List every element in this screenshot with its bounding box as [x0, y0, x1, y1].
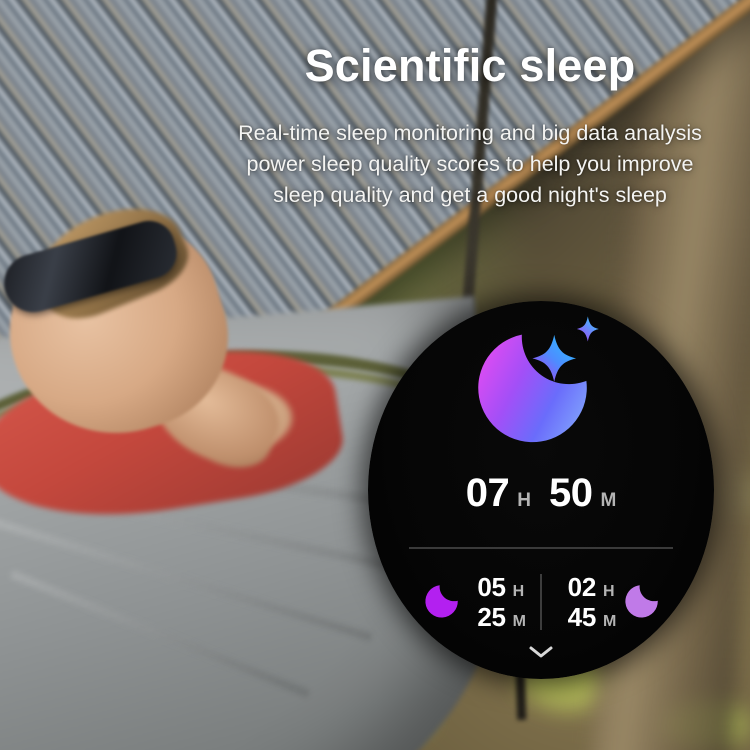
- deep-sleep-minutes-unit: M: [513, 613, 526, 630]
- chevron-down-icon: [528, 645, 554, 659]
- deep-sleep-stat[interactable]: 05 H 25 M: [423, 573, 526, 631]
- sparkle-star-icon: [524, 313, 608, 397]
- deep-sleep-hours-unit: H: [513, 583, 525, 600]
- light-sleep-minutes-value: 45: [556, 603, 596, 631]
- total-hours-unit: H: [517, 491, 531, 510]
- deep-sleep-hours-value: 05: [466, 573, 506, 601]
- total-minutes-value: 50: [549, 473, 593, 513]
- light-sleep-stat[interactable]: 02 H 45 M: [556, 573, 659, 631]
- stat-divider: [540, 574, 542, 630]
- deep-sleep-minutes-value: 25: [466, 603, 506, 631]
- sleep-stage-stats: 05 H 25 M 02 H 45: [368, 573, 714, 631]
- light-sleep-hours-value: 02: [556, 573, 596, 601]
- total-minutes-unit: M: [600, 491, 616, 510]
- light-sleep-minutes-unit: M: [603, 613, 616, 630]
- crescent-moon-icon: [623, 584, 659, 620]
- total-sleep-duration: 07 H 50 M: [368, 473, 714, 513]
- promo-scene: Scientific sleep Real-time sleep monitor…: [0, 0, 750, 750]
- smartwatch-sleep-screen[interactable]: 07 H 50 M 05 H 25 M: [368, 301, 714, 679]
- scroll-down-indicator[interactable]: [368, 645, 714, 659]
- light-sleep-hours-unit: H: [603, 583, 615, 600]
- divider: [409, 547, 673, 549]
- crescent-moon-icon: [423, 584, 459, 620]
- total-hours-value: 07: [466, 473, 510, 513]
